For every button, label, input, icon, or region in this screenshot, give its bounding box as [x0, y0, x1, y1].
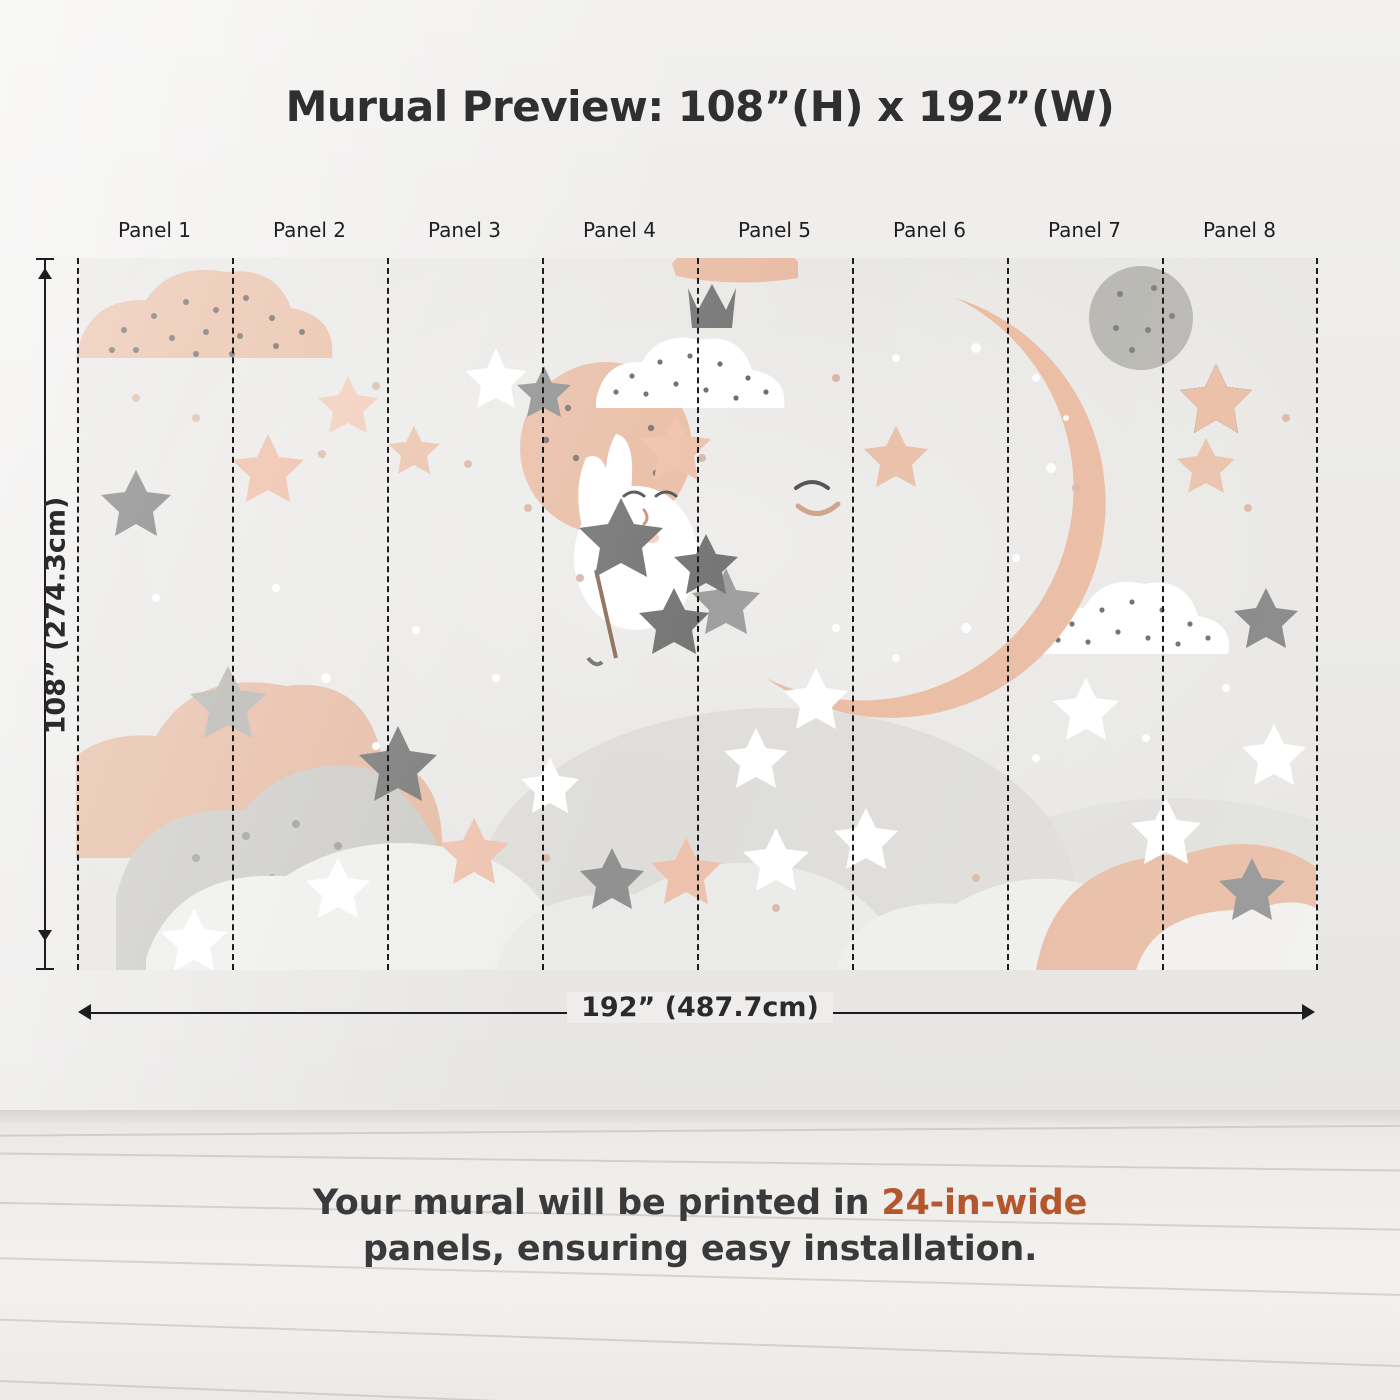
- panel-label-2: Panel 2: [232, 218, 387, 242]
- panel-divider-7: [1162, 258, 1164, 970]
- panel-label-6: Panel 6: [852, 218, 1007, 242]
- height-cap-bottom: [36, 968, 54, 970]
- width-label: 192” (487.7cm): [567, 992, 833, 1023]
- width-label-wrap: 192” (487.7cm): [0, 992, 1400, 1023]
- panel-divider-0: [77, 258, 79, 970]
- height-arrow-down: [38, 930, 52, 941]
- panel-label-7: Panel 7: [1007, 218, 1162, 242]
- floor-baseboard: [0, 1110, 1400, 1124]
- mural-artwork: [76, 258, 1316, 970]
- panel-divider-4: [697, 258, 699, 970]
- page-title: Murual Preview: 108”(H) x 192”(W): [0, 82, 1400, 131]
- panel-divider-6: [1007, 258, 1009, 970]
- footer-line-1: Your mural will be printed in 24-in-wide: [0, 1180, 1400, 1226]
- panel-label-1: Panel 1: [77, 218, 232, 242]
- height-arrow-up: [38, 268, 52, 279]
- height-label: 108” (274.3cm): [41, 466, 72, 766]
- panel-divider-3: [542, 258, 544, 970]
- panel-label-4: Panel 4: [542, 218, 697, 242]
- mural-preview-page: Murual Preview: 108”(H) x 192”(W): [0, 0, 1400, 1400]
- panel-divider-8: [1316, 258, 1318, 970]
- footer-line-2: panels, ensuring easy installation.: [0, 1226, 1400, 1272]
- height-cap-top: [36, 258, 54, 260]
- mural-svg: [76, 258, 1316, 970]
- panel-divider-2: [387, 258, 389, 970]
- panel-divider-5: [852, 258, 854, 970]
- footer-highlight: 24-in-wide: [881, 1183, 1087, 1223]
- panel-label-8: Panel 8: [1162, 218, 1317, 242]
- panel-label-3: Panel 3: [387, 218, 542, 242]
- panel-divider-1: [232, 258, 234, 970]
- footer-line-1-pre: Your mural will be printed in: [313, 1183, 882, 1223]
- panel-label-5: Panel 5: [697, 218, 852, 242]
- footer-text: Your mural will be printed in 24-in-wide…: [0, 1180, 1400, 1272]
